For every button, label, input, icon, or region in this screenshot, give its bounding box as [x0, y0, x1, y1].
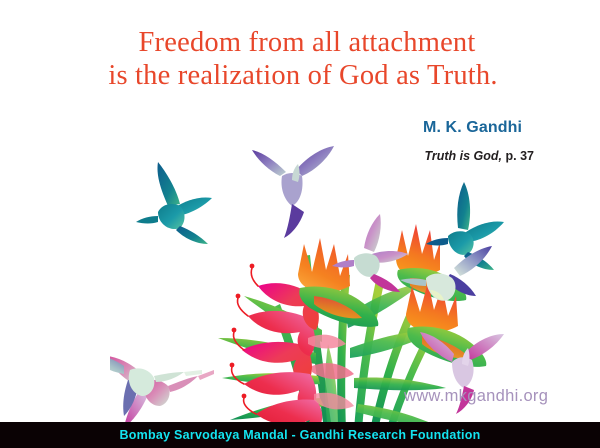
- quote-line-1: Freedom from all attachment: [0, 26, 600, 59]
- bird-left-teal: [136, 162, 212, 244]
- website-url[interactable]: www.mkgandhi.org: [404, 386, 548, 406]
- footer-organization-text: Bombay Sarvodaya Mandal - Gandhi Researc…: [120, 428, 481, 442]
- quote-block: Freedom from all attachment is the reali…: [0, 26, 600, 92]
- quote-line-2: is the realization of God as Truth.: [0, 59, 600, 92]
- author-name: M. K. Gandhi: [423, 118, 522, 138]
- quote-card: Freedom from all attachment is the reali…: [0, 0, 600, 448]
- footer-bar: Bombay Sarvodaya Mandal - Gandhi Researc…: [0, 422, 600, 448]
- bird-top-purple: [252, 146, 334, 238]
